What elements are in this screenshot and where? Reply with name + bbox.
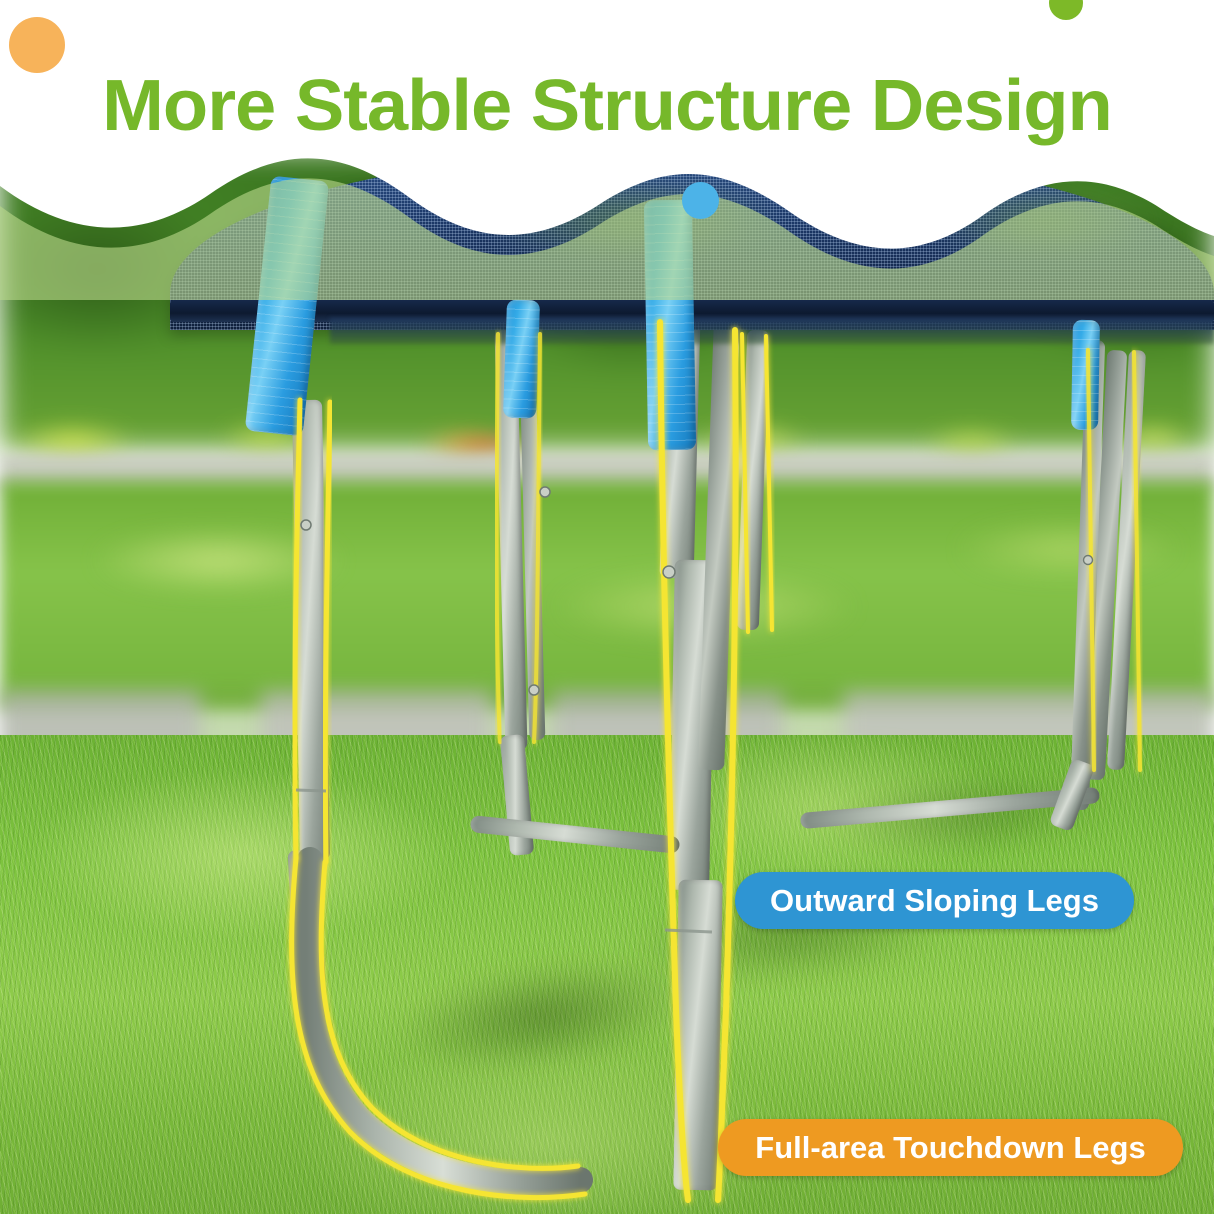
page-title: More Stable Structure Design [0,68,1214,144]
net-post-right-ribs [1071,320,1100,430]
orange-dot [9,17,65,73]
callout-full-area-touchdown-legs[interactable]: Full-area Touchdown Legs [718,1119,1183,1176]
net-post-mid-ribs [503,299,540,418]
background-lawn-highlights [0,480,1214,710]
header-wave-overlay [0,0,1214,300]
callout-full-area-touchdown-legs-label: Full-area Touchdown Legs [755,1130,1145,1166]
wavy-divider [0,0,1214,300]
callout-outward-sloping-legs[interactable]: Outward Sloping Legs [735,872,1134,929]
trampoline-leg-center-lower [673,880,722,1191]
product-feature-banner: More Stable Structure Design Outward Slo… [0,0,1214,1214]
callout-outward-sloping-legs-label: Outward Sloping Legs [770,883,1099,919]
blue-dot [682,182,719,219]
